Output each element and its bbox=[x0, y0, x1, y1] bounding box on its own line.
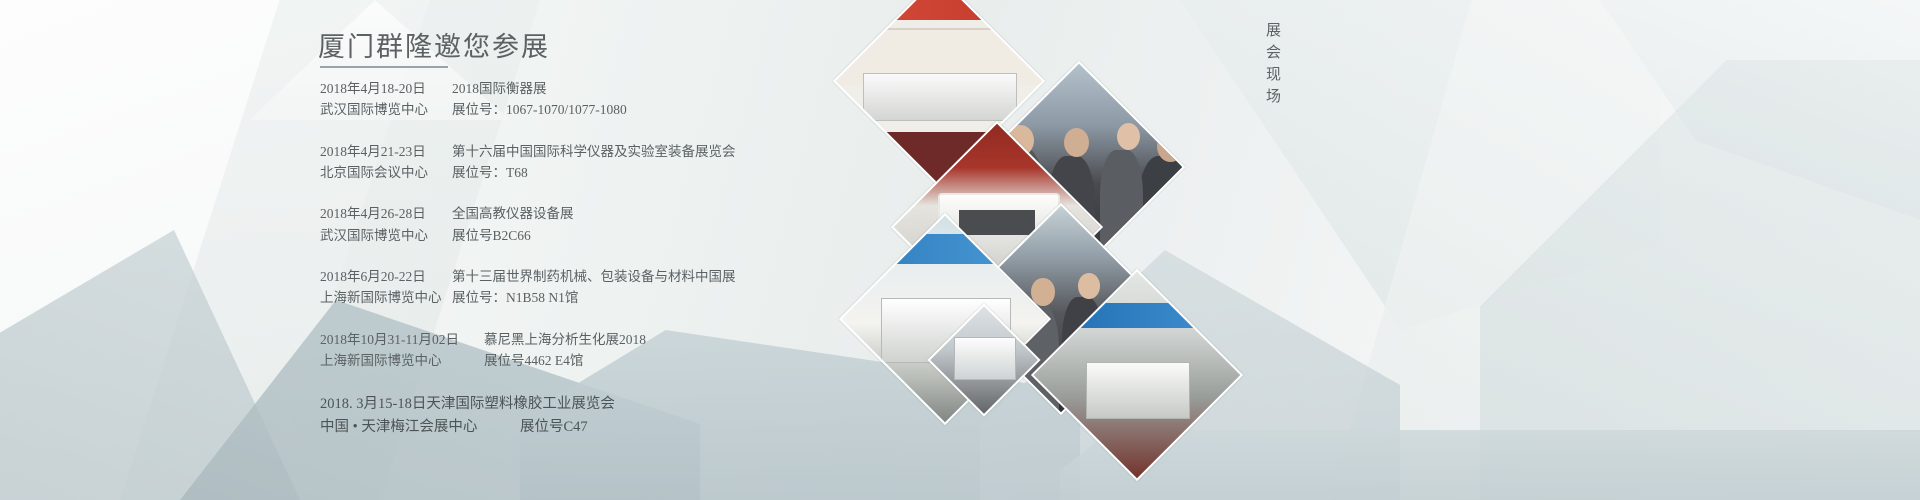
event-booth: 展位号：T68 bbox=[440, 162, 528, 183]
list-item: 2018年4月26-28日 全国高教仪器设备展 武汉国际博览中心 展位号B2C6… bbox=[320, 203, 1080, 246]
event-booth: 展位号：1067-1070/1077-1080 bbox=[440, 99, 627, 120]
list-item: 2018年6月20-22日 第十三届世界制药机械、包装设备与材料中国展 上海新国… bbox=[320, 266, 1080, 309]
event-name: 全国高教仪器设备展 bbox=[440, 203, 574, 224]
event-name: 慕尼黑上海分析生化展2018 bbox=[472, 329, 646, 350]
event-venue: 武汉国际博览中心 bbox=[320, 99, 440, 120]
list-item: 2018. 3月15-18日天津国际塑料橡胶工业展览会 中国 • 天津梅江会展中… bbox=[320, 393, 1080, 439]
banner-content: 厦门群隆邀您参展 2018年4月18-20日 2018国际衡器展 武汉国际博览中… bbox=[0, 0, 1920, 500]
vertical-caption: 展会现场 bbox=[1262, 22, 1283, 110]
event-venue: 武汉国际博览中心 bbox=[320, 225, 440, 246]
list-item: 2018年4月21-23日 第十六届中国国际科学仪器及实验室装备展览会 北京国际… bbox=[320, 141, 1080, 184]
event-venue: 上海新国际博览中心 bbox=[320, 350, 472, 371]
exhibition-list: 2018年4月18-20日 2018国际衡器展 武汉国际博览中心 展位号：106… bbox=[320, 66, 1080, 448]
event-name: 2018国际衡器展 bbox=[440, 78, 547, 99]
event-name: 第十六届中国国际科学仪器及实验室装备展览会 bbox=[440, 141, 736, 162]
event-date: 2018年6月20-22日 bbox=[320, 266, 440, 287]
event-venue: 中国 • 天津梅江会展中心 bbox=[320, 416, 520, 439]
banner-stage: 厦门群隆邀您参展 2018年4月18-20日 2018国际衡器展 武汉国际博览中… bbox=[0, 0, 1920, 500]
event-venue: 北京国际会议中心 bbox=[320, 162, 440, 183]
event-date: 2018年4月26-28日 bbox=[320, 203, 440, 224]
event-date: 2018. 3月15-18日天津国际塑料橡胶工业展览会 bbox=[320, 393, 615, 416]
event-booth: 展位号C47 bbox=[520, 416, 588, 439]
event-name: 第十三届世界制药机械、包装设备与材料中国展 bbox=[440, 266, 736, 287]
list-item: 2018年4月18-20日 2018国际衡器展 武汉国际博览中心 展位号：106… bbox=[320, 78, 1080, 121]
event-date: 2018年4月18-20日 bbox=[320, 78, 440, 99]
event-date: 2018年10月31-11月02日 bbox=[320, 329, 472, 350]
event-booth: 展位号4462 E4馆 bbox=[472, 350, 583, 371]
list-item: 2018年10月31-11月02日 慕尼黑上海分析生化展2018 上海新国际博览… bbox=[320, 329, 1080, 372]
event-venue: 上海新国际博览中心 bbox=[320, 287, 440, 308]
event-booth: 展位号B2C66 bbox=[440, 225, 531, 246]
event-date: 2018年4月21-23日 bbox=[320, 141, 440, 162]
page-title: 厦门群隆邀您参展 bbox=[318, 25, 550, 64]
event-booth: 展位号：N1B58 N1馆 bbox=[440, 287, 578, 308]
